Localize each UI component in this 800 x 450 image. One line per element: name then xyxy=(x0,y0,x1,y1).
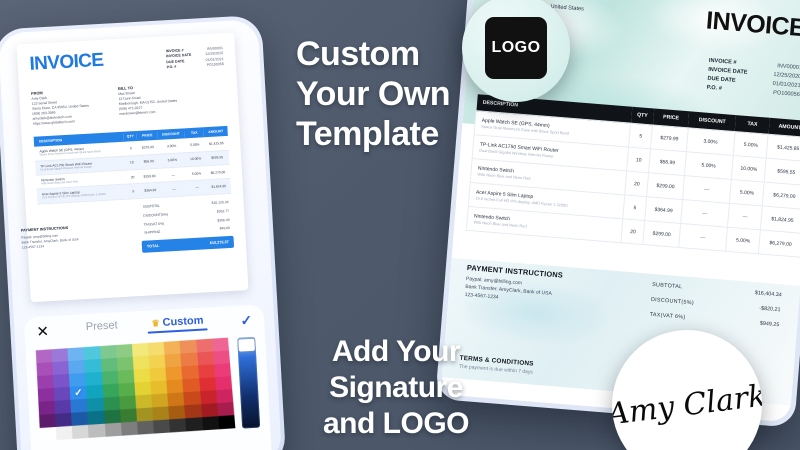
item-qty: 5 xyxy=(629,123,653,149)
color-swatch[interactable] xyxy=(72,425,89,439)
item-amount: $595.55 xyxy=(765,158,800,185)
color-swatch[interactable] xyxy=(52,348,69,362)
meta-label: INVOICE DATE xyxy=(708,67,748,76)
headline-bottom-line: and LOGO xyxy=(296,406,496,442)
left-invoice-title: INVOICE xyxy=(29,50,104,76)
color-swatch[interactable] xyxy=(182,365,199,379)
left-payment-instructions: PAYMENT INSTRUCTIONS Paypal: amy@billing… xyxy=(21,225,79,250)
total-value: $949.25 xyxy=(760,321,780,329)
color-swatch[interactable] xyxy=(38,401,55,415)
item-qty: 20 xyxy=(621,219,645,245)
item-qty: 20 xyxy=(125,169,140,184)
billto-block: BILL TO Max Brown 13 Dunn Road Marlborou… xyxy=(118,82,178,122)
tab-custom[interactable]: ♛Custom xyxy=(151,315,204,334)
meta-value: PO100056 xyxy=(207,62,224,67)
item-price: $279.99 xyxy=(651,125,688,152)
left-invoice-meta: INVOICE # INVOICE DATE DUE DATE P.O. # I… xyxy=(166,46,224,71)
meta-label: P.O. # xyxy=(706,85,722,92)
item-discount: — xyxy=(160,181,188,197)
item-tax: 5.00% xyxy=(187,166,207,181)
color-swatch[interactable] xyxy=(84,346,101,360)
meta-value: 01/01/2021 xyxy=(772,81,800,89)
color-swatch[interactable] xyxy=(215,376,232,390)
item-price: $299.00 xyxy=(647,173,684,200)
color-swatch[interactable] xyxy=(105,423,122,437)
item-price: $299.00 xyxy=(139,168,160,183)
left-invoice-totals: SUBTOTAL$10,125.34DISCOUNT(5%)$263.77TAX… xyxy=(139,197,234,252)
color-swatch[interactable] xyxy=(132,343,149,357)
color-swatch[interactable] xyxy=(69,360,86,374)
color-swatch[interactable] xyxy=(137,420,154,434)
color-swatch[interactable] xyxy=(86,385,103,399)
meta-value: INV00001 xyxy=(207,46,223,51)
meta-label: P.O. # xyxy=(167,65,177,70)
color-swatch[interactable] xyxy=(133,356,150,370)
color-swatch[interactable] xyxy=(198,364,215,378)
item-amount: $595.55 xyxy=(205,150,230,166)
check-icon: ✓ xyxy=(74,387,83,399)
item-amount: $1,824.95 xyxy=(761,206,800,233)
total-label: SUBTOTAL xyxy=(143,204,161,209)
color-swatch[interactable] xyxy=(201,403,218,417)
total-label: TAX(VAT 6%) xyxy=(144,221,165,226)
left-invoice-meta-labels: INVOICE # INVOICE DATE DUE DATE P.O. # xyxy=(166,48,192,71)
color-swatch[interactable] xyxy=(102,384,119,398)
item-tax: 10.00% xyxy=(186,151,206,166)
right-invoice-meta: INVOICE # INVOICE DATE DUE DATE P.O. # I… xyxy=(706,57,800,100)
color-swatch[interactable] xyxy=(152,406,169,420)
total-value: $356.49 xyxy=(217,218,229,223)
left-phone-screen: INVOICE INVOICE # INVOICE DATE DUE DATE … xyxy=(0,19,282,450)
from-block: FROM Amy Clark 123 Serial Street Santa C… xyxy=(31,87,90,127)
payment-line: 123-4567-1234 xyxy=(464,292,498,301)
headline-top-line: Template xyxy=(296,114,450,154)
item-discount: — xyxy=(678,223,727,251)
color-swatch[interactable] xyxy=(153,419,170,433)
item-amount: $6,279.00 xyxy=(759,230,800,257)
meta-value: 01/01/2021 xyxy=(205,57,223,62)
meta-label: INVOICE # xyxy=(709,58,737,66)
color-swatch[interactable] xyxy=(136,407,153,421)
color-swatch[interactable] xyxy=(39,414,56,428)
item-tax: — xyxy=(187,180,207,195)
headline-bottom-line: Add Your xyxy=(296,334,496,370)
meta-label: INVOICE # xyxy=(166,48,184,53)
color-swatch[interactable] xyxy=(169,405,186,419)
item-qty: 5 xyxy=(126,184,141,199)
color-swatch[interactable] xyxy=(150,368,167,382)
meta-value: 12/25/2020 xyxy=(205,51,223,56)
color-swatch[interactable] xyxy=(166,366,183,380)
color-swatch[interactable] xyxy=(101,371,118,385)
meta-value: PO100056 xyxy=(773,90,800,98)
left-invoice-table: DESCRIPTIONQTYPRICEDISCOUNTTAXAMOUNT App… xyxy=(34,126,231,204)
color-swatch[interactable] xyxy=(36,362,53,376)
color-swatch[interactable] xyxy=(69,373,86,387)
item-qty: 10 xyxy=(124,155,139,170)
left-invoice-header: INVOICE INVOICE # INVOICE DATE DUE DATE … xyxy=(29,43,224,78)
item-amount: $1,425.85 xyxy=(204,136,229,151)
total-value: $49.00 xyxy=(220,226,231,231)
color-swatch[interactable] xyxy=(214,363,231,377)
color-swatch[interactable] xyxy=(135,394,152,408)
color-swatch[interactable] xyxy=(134,381,151,395)
color-swatch[interactable] xyxy=(101,358,118,372)
color-swatch[interactable] xyxy=(71,412,88,426)
color-swatch[interactable] xyxy=(218,415,235,429)
color-swatch[interactable] xyxy=(88,411,105,425)
total-value: $263.77 xyxy=(217,209,229,214)
color-swatch[interactable] xyxy=(202,416,219,430)
item-price: $299.00 xyxy=(643,221,680,248)
color-swatch[interactable] xyxy=(121,422,138,436)
color-swatch[interactable] xyxy=(119,395,136,409)
color-swatch[interactable] xyxy=(217,402,234,416)
color-swatch[interactable]: ✓ xyxy=(70,386,87,400)
color-swatch[interactable] xyxy=(38,388,55,402)
color-swatch[interactable] xyxy=(118,383,135,397)
color-swatch[interactable] xyxy=(212,338,229,352)
meta-label: INVOICE DATE xyxy=(166,53,191,58)
brightness-slider[interactable] xyxy=(237,337,260,429)
color-swatch[interactable] xyxy=(199,377,216,391)
from-line: https://www.globaltech.com/ xyxy=(33,120,75,126)
color-swatch[interactable] xyxy=(185,404,202,418)
item-price: $279.99 xyxy=(138,140,159,155)
meta-label: DUE DATE xyxy=(166,59,184,64)
total-value: $10,125.34 xyxy=(212,200,229,205)
color-picker-panel: ✕ Preset ♛Custom ✓ ✓ xyxy=(24,304,273,450)
color-swatch[interactable] xyxy=(197,351,214,365)
total-label: SHIPPING xyxy=(144,230,160,235)
item-discount: — xyxy=(159,167,187,183)
color-swatch[interactable] xyxy=(55,413,72,427)
color-swatch[interactable] xyxy=(151,380,168,394)
signature-text: Amy Clark xyxy=(612,378,762,432)
check-icon[interactable]: ✓ xyxy=(240,311,253,329)
right-invoice-totals: SUBTOTAL$16,404.34DISCOUNT(5%)-$820.21TA… xyxy=(649,277,782,333)
left-phone-mockup: INVOICE INVOICE # INVOICE DATE DUE DATE … xyxy=(0,15,286,450)
item-tax: 5.00% xyxy=(725,227,760,254)
color-swatch[interactable] xyxy=(151,393,168,407)
slider-handle[interactable] xyxy=(238,339,255,352)
color-swatch[interactable] xyxy=(148,342,165,356)
right-payment-instructions: PAYMENT INSTRUCTIONS Paypal: amy@billing… xyxy=(464,264,563,307)
total-value: $16,404.34 xyxy=(755,290,782,298)
meta-value: INV00001 xyxy=(777,63,800,71)
item-price: $56.99 xyxy=(138,154,159,169)
color-picker-body: ✓ xyxy=(25,334,270,440)
grand-total-bar: TOTAL$10,275.37 xyxy=(142,236,235,253)
color-swatch[interactable] xyxy=(56,426,73,440)
right-invoice-table: DESCRIPTIONQTYPRICEDISCOUNTTAXAMOUNT App… xyxy=(466,94,800,258)
right-invoice-title: INVOICE xyxy=(705,6,800,43)
table-body: Apple Watch SE (GPS, 44mm)Space Gray Alu… xyxy=(34,136,231,204)
color-swatch[interactable] xyxy=(85,359,102,373)
total-label: SUBTOTAL xyxy=(652,281,683,289)
color-swatch[interactable] xyxy=(164,341,181,355)
item-qty: 5 xyxy=(623,195,647,221)
color-swatch[interactable] xyxy=(149,355,166,369)
left-invoice-meta-values: INV00001 12/25/2020 01/01/2021 PO100056 xyxy=(205,46,224,69)
grand-total-value: $10,275.37 xyxy=(210,240,229,245)
meta-value: 12/25/2020 xyxy=(773,72,800,80)
color-swatch[interactable] xyxy=(180,340,197,354)
meta-label: DUE DATE xyxy=(707,76,736,84)
billto-line: maxbrown@bbrem.com xyxy=(119,110,155,116)
item-price: $364.99 xyxy=(645,197,682,224)
item-tax: — xyxy=(727,203,762,230)
right-meta-labels: INVOICE # INVOICE DATE DUE DATE P.O. # xyxy=(706,57,748,96)
total-label: DISCOUNT(5%) xyxy=(143,212,168,217)
color-swatch[interactable] xyxy=(103,397,120,411)
table-body: Apple Watch SE (GPS, 44mm)Space Gray Alu… xyxy=(466,111,800,257)
color-swatch[interactable] xyxy=(55,400,72,414)
left-invoice-document: INVOICE INVOICE # INVOICE DATE DUE DATE … xyxy=(16,32,248,302)
color-swatch[interactable] xyxy=(165,354,182,368)
item-tax: 5.00% xyxy=(729,179,764,206)
color-picker-tabs: Preset ♛Custom xyxy=(49,313,241,340)
item-price: $56.99 xyxy=(649,149,686,176)
color-swatch[interactable] xyxy=(37,375,54,389)
color-swatch[interactable] xyxy=(87,398,104,412)
color-swatch[interactable] xyxy=(104,410,121,424)
left-invoice-parties: FROM Amy Clark 123 Serial Street Santa C… xyxy=(31,80,227,127)
color-swatch[interactable] xyxy=(134,369,151,383)
color-swatch[interactable] xyxy=(184,391,201,405)
color-swatch[interactable] xyxy=(52,361,69,375)
color-swatch[interactable] xyxy=(168,392,185,406)
color-swatch[interactable] xyxy=(36,349,53,363)
headline-bottom-line: Signature xyxy=(296,370,496,406)
headline-top-line: Your Own xyxy=(296,74,450,114)
tab-preset[interactable]: Preset xyxy=(85,319,118,337)
color-swatch[interactable] xyxy=(169,418,186,432)
close-icon[interactable]: ✕ xyxy=(36,324,49,340)
column-header: QTY xyxy=(631,107,655,125)
color-swatch[interactable] xyxy=(71,399,88,413)
color-swatch[interactable] xyxy=(200,390,217,404)
color-swatch[interactable] xyxy=(88,424,105,438)
screenshot-stage: INVOICE INVOICE # INVOICE DATE DUE DATE … xyxy=(0,0,800,450)
crown-icon: ♛ xyxy=(151,318,160,328)
item-amount: $1,425.85 xyxy=(767,134,800,161)
item-tax: 5.00% xyxy=(733,132,768,159)
tab-preset-label: Preset xyxy=(85,319,117,333)
color-swatch[interactable] xyxy=(181,353,198,367)
color-swatch[interactable] xyxy=(183,378,200,392)
color-swatch[interactable] xyxy=(85,372,102,386)
tab-custom-label: Custom xyxy=(162,315,204,329)
payment-line: 123-4567-1234 xyxy=(22,244,45,249)
item-discount: 5.00% xyxy=(158,152,186,168)
total-label: TAX(VAT 6%) xyxy=(649,312,685,321)
item-qty: 20 xyxy=(625,171,649,197)
color-swatch[interactable] xyxy=(167,379,184,393)
color-swatch[interactable] xyxy=(117,357,134,371)
color-swatch[interactable] xyxy=(213,350,230,364)
item-price: $364.99 xyxy=(140,183,161,198)
logo-placeholder: LOGO xyxy=(485,17,547,79)
color-swatch[interactable] xyxy=(196,339,213,353)
color-swatch[interactable] xyxy=(186,417,203,431)
color-swatch[interactable] xyxy=(54,387,71,401)
color-swatch[interactable] xyxy=(68,347,85,361)
item-tax: 10.00% xyxy=(731,155,766,182)
item-tax: 5.00% xyxy=(185,137,205,152)
color-swatch[interactable] xyxy=(120,409,137,423)
grand-total-label: TOTAL xyxy=(147,244,160,249)
headline-top: Custom Your Own Template xyxy=(296,34,450,154)
color-swatch[interactable] xyxy=(116,344,133,358)
item-qty: 5 xyxy=(124,141,139,156)
color-swatch[interactable] xyxy=(53,374,70,388)
item-qty: 10 xyxy=(627,147,651,173)
right-meta-values: INV00001 12/25/2020 01/01/2021 PO100056 xyxy=(771,62,800,100)
color-swatch[interactable] xyxy=(117,370,134,384)
billto-heading: BILL TO xyxy=(118,82,177,90)
item-amount: $6,279.00 xyxy=(206,164,231,180)
item-amount: $6,279.00 xyxy=(763,182,800,209)
headline-bottom: Add Your Signature and LOGO xyxy=(296,334,496,442)
color-swatch[interactable] xyxy=(40,427,57,441)
color-swatch[interactable] xyxy=(100,345,117,359)
color-swatch-grid[interactable]: ✓ xyxy=(36,338,236,442)
item-amount: $1,824.95 xyxy=(206,179,231,195)
total-value: -$820.21 xyxy=(759,305,781,313)
color-swatch[interactable] xyxy=(216,389,233,403)
item-subtitle: With Neon Blue and Neon Red xyxy=(473,219,619,237)
headline-top-line: Custom xyxy=(296,34,450,74)
from-heading: FROM xyxy=(31,87,88,95)
total-label: DISCOUNT(5%) xyxy=(651,297,694,306)
